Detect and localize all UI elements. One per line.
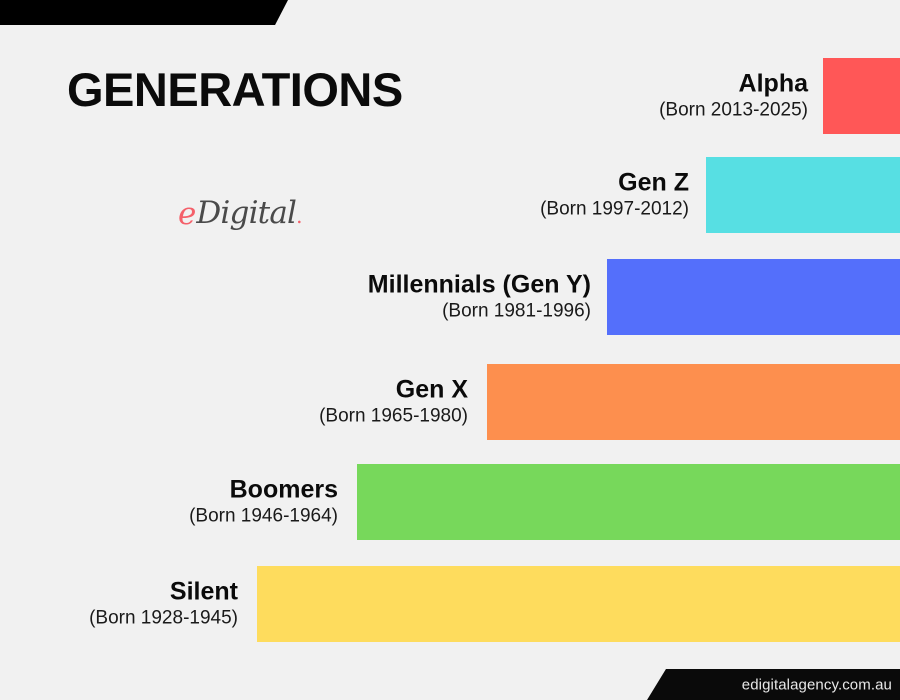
generation-birth-years: (Born 1928-1945) bbox=[0, 609, 238, 630]
generation-birth-years: (Born 1965-1980) bbox=[0, 407, 468, 428]
generation-label-group: Alpha(Born 2013-2025) bbox=[0, 71, 808, 122]
generation-birth-years: (Born 1946-1964) bbox=[0, 507, 338, 528]
generation-name: Boomers bbox=[0, 477, 338, 504]
generation-name: Alpha bbox=[0, 71, 808, 98]
generation-bar bbox=[487, 364, 900, 440]
chart-row: Gen Z(Born 1997-2012) bbox=[0, 157, 900, 233]
footer-website-url: edigitalagency.com.au bbox=[742, 676, 892, 693]
chart-row: Alpha(Born 2013-2025) bbox=[0, 58, 900, 134]
infographic-canvas: GENERATIONS eDigital. Alpha(Born 2013-20… bbox=[0, 0, 900, 700]
generation-label-group: Silent(Born 1928-1945) bbox=[0, 579, 238, 630]
generation-label-group: Gen X(Born 1965-1980) bbox=[0, 377, 468, 428]
chart-row: Gen X(Born 1965-1980) bbox=[0, 364, 900, 440]
generation-name: Silent bbox=[0, 579, 238, 606]
chart-row: Boomers(Born 1946-1964) bbox=[0, 464, 900, 540]
footer-banner: edigitalagency.com.au bbox=[647, 669, 900, 700]
generation-label-group: Boomers(Born 1946-1964) bbox=[0, 477, 338, 528]
generation-birth-years: (Born 1997-2012) bbox=[0, 200, 689, 221]
chart-row: Silent(Born 1928-1945) bbox=[0, 566, 900, 642]
top-left-banner-decoration bbox=[0, 0, 288, 25]
generation-birth-years: (Born 1981-1996) bbox=[0, 302, 591, 323]
generation-bar bbox=[706, 157, 900, 233]
generation-label-group: Millennials (Gen Y)(Born 1981-1996) bbox=[0, 272, 591, 323]
generation-bar bbox=[823, 58, 900, 134]
generation-label-group: Gen Z(Born 1997-2012) bbox=[0, 170, 689, 221]
generation-name: Gen X bbox=[0, 377, 468, 404]
generation-bar bbox=[607, 259, 900, 335]
generation-birth-years: (Born 2013-2025) bbox=[0, 101, 808, 122]
generation-name: Gen Z bbox=[0, 170, 689, 197]
generation-bar bbox=[357, 464, 900, 540]
generation-name: Millennials (Gen Y) bbox=[0, 272, 591, 299]
chart-row: Millennials (Gen Y)(Born 1981-1996) bbox=[0, 259, 900, 335]
generation-bar bbox=[257, 566, 900, 642]
